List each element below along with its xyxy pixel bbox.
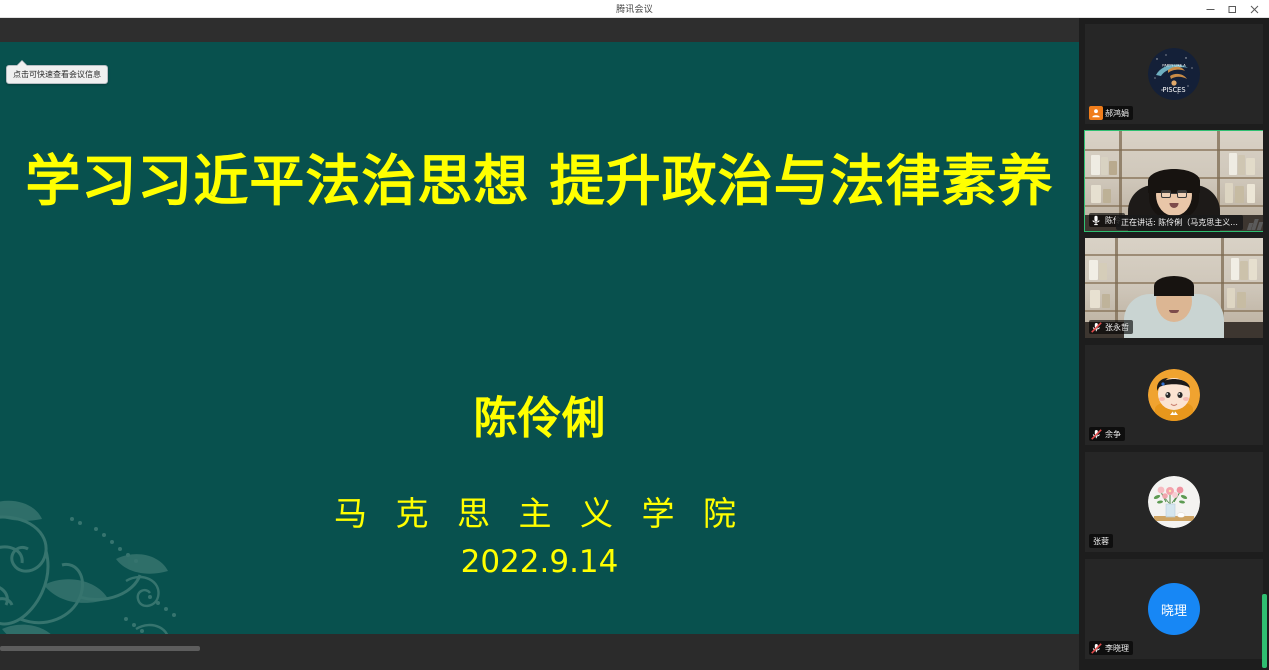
slide-date: 2022.9.14 — [0, 544, 1079, 580]
tencent-meeting-window: 腾讯会议 — [0, 0, 1269, 670]
meeting-info-tooltip: 点击可快速查看会议信息 — [6, 65, 108, 84]
participant-name-badge: 张永哲 — [1089, 320, 1133, 334]
avatar — [1148, 476, 1200, 528]
minimize-button[interactable] — [1199, 0, 1221, 18]
participant-tile[interactable]: 张蓉 — [1085, 452, 1263, 552]
close-button[interactable] — [1243, 0, 1265, 18]
horizontal-scrollbar[interactable] — [0, 645, 1079, 652]
microphone-icon — [1089, 213, 1103, 227]
microphone-muted-icon — [1089, 320, 1103, 334]
avatar-caption-bottom: PISCES — [1162, 86, 1185, 94]
window-title: 腾讯会议 — [616, 2, 653, 15]
microphone-muted-icon — [1089, 427, 1103, 441]
participant-tile[interactable]: PARTY LIKE A PISCES 郝鸿娟 — [1085, 24, 1263, 124]
participant-tile[interactable]: 晓理 李晓理 — [1085, 559, 1263, 659]
avatar: 晓理 — [1148, 583, 1200, 635]
participant-name-badge: 张蓉 — [1089, 534, 1113, 548]
participant-name: 张蓉 — [1093, 536, 1109, 547]
participant-name-badge: 郝鸿娟 — [1089, 106, 1133, 120]
active-speaker-banner: 正在讲话: 陈伶俐（马克思主义... — [1116, 215, 1243, 230]
participant-name-badge: 余争 — [1089, 427, 1125, 441]
participant-filmstrip[interactable]: PARTY LIKE A PISCES 郝鸿娟 — [1079, 18, 1269, 670]
host-icon — [1089, 106, 1103, 120]
microphone-muted-icon — [1089, 641, 1103, 655]
slide-presenter-name: 陈伶俐 — [0, 382, 1079, 446]
participant-name: 张永哲 — [1105, 322, 1129, 333]
participant-tile[interactable]: 张永哲 — [1085, 238, 1263, 338]
window-titlebar: 腾讯会议 — [0, 0, 1269, 18]
slide-organization: 马 克 思 主 义 学 院 — [0, 487, 1079, 535]
avatar — [1148, 369, 1200, 421]
participant-tile[interactable]: 陈伶 正在讲话: 陈伶俐（马克思主义... — [1085, 131, 1263, 231]
avatar: PARTY LIKE A PISCES — [1148, 48, 1200, 100]
restore-button[interactable] — [1221, 0, 1243, 18]
horizontal-scrollbar-thumb[interactable] — [0, 646, 200, 651]
participant-name: 郝鸿娟 — [1105, 108, 1129, 119]
filmstrip-scrollbar-thumb[interactable] — [1262, 594, 1267, 668]
shared-screen-stage[interactable]: 学习习近平法治思想 提升政治与法律素养 陈伶俐 马 克 思 主 义 学 院 20… — [0, 18, 1079, 652]
participant-tile[interactable]: 余争 — [1085, 345, 1263, 445]
audio-waveform-icon — [1248, 219, 1262, 230]
participant-name: 余争 — [1105, 429, 1121, 440]
filmstrip-scrollbar[interactable] — [1263, 24, 1268, 670]
participant-name-badge: 李晓理 — [1089, 641, 1133, 655]
participant-name: 李晓理 — [1105, 643, 1129, 654]
slide-title: 学习习近平法治思想 提升政治与法律素养 — [0, 136, 1079, 216]
avatar-caption-top: PARTY LIKE A — [1162, 64, 1186, 68]
window-controls — [1199, 0, 1265, 18]
presentation-slide: 学习习近平法治思想 提升政治与法律素养 陈伶俐 马 克 思 主 义 学 院 20… — [0, 42, 1079, 652]
